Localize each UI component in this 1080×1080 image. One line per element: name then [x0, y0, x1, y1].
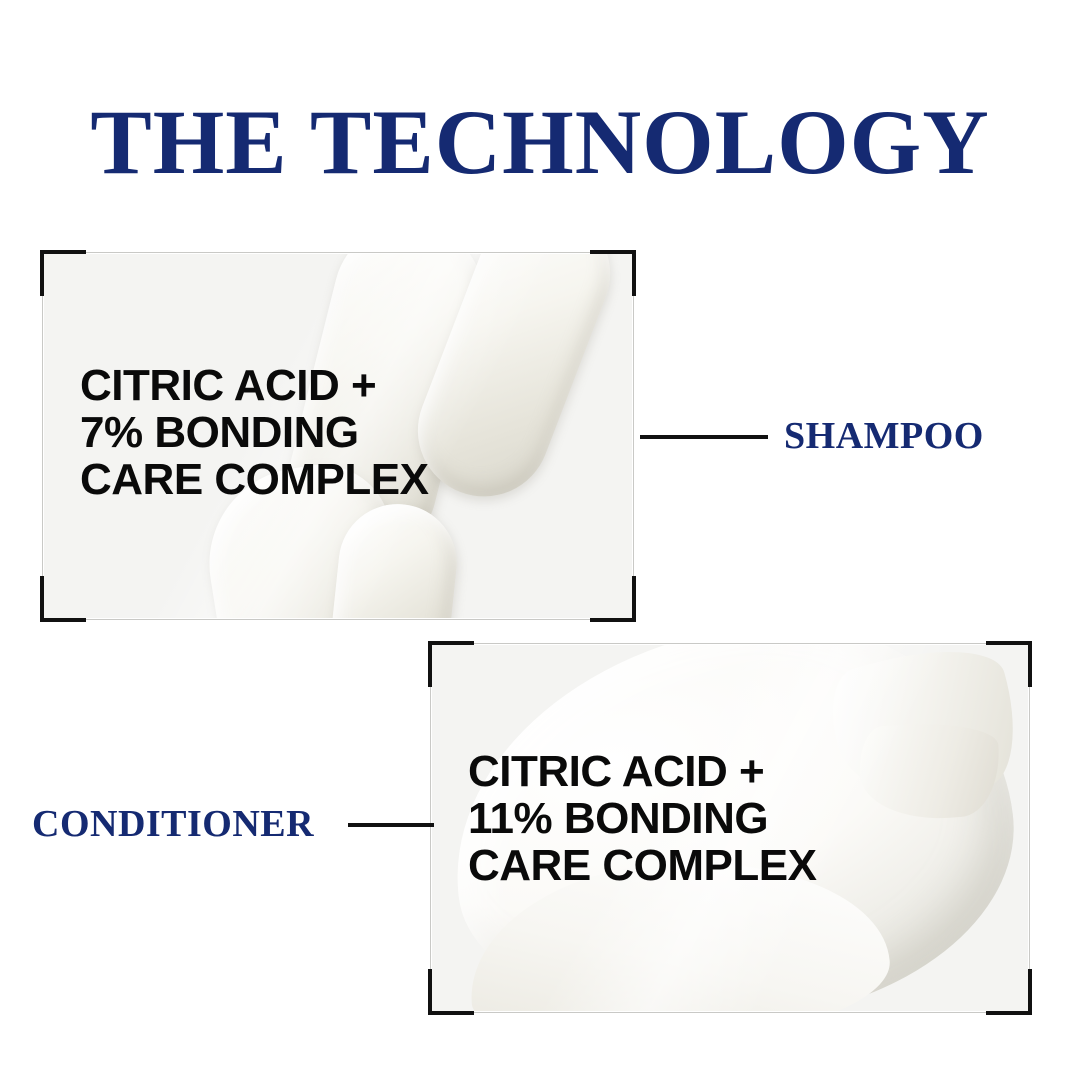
- conditioner-callout-label: CONDITIONER: [32, 805, 314, 843]
- technology-poster: THE TECHNOLOGY CITRIC ACID + 7% BONDING …: [0, 0, 1080, 1080]
- conditioner-ingredient-text: CITRIC ACID + 11% BONDING CARE COMPLEX: [468, 748, 816, 889]
- conditioner-leader-line: [348, 823, 434, 827]
- page-title: THE TECHNOLOGY: [0, 96, 1080, 188]
- shampoo-leader-line: [640, 435, 768, 439]
- shampoo-callout-label: SHAMPOO: [784, 417, 984, 455]
- shampoo-ingredient-text: CITRIC ACID + 7% BONDING CARE COMPLEX: [80, 362, 428, 503]
